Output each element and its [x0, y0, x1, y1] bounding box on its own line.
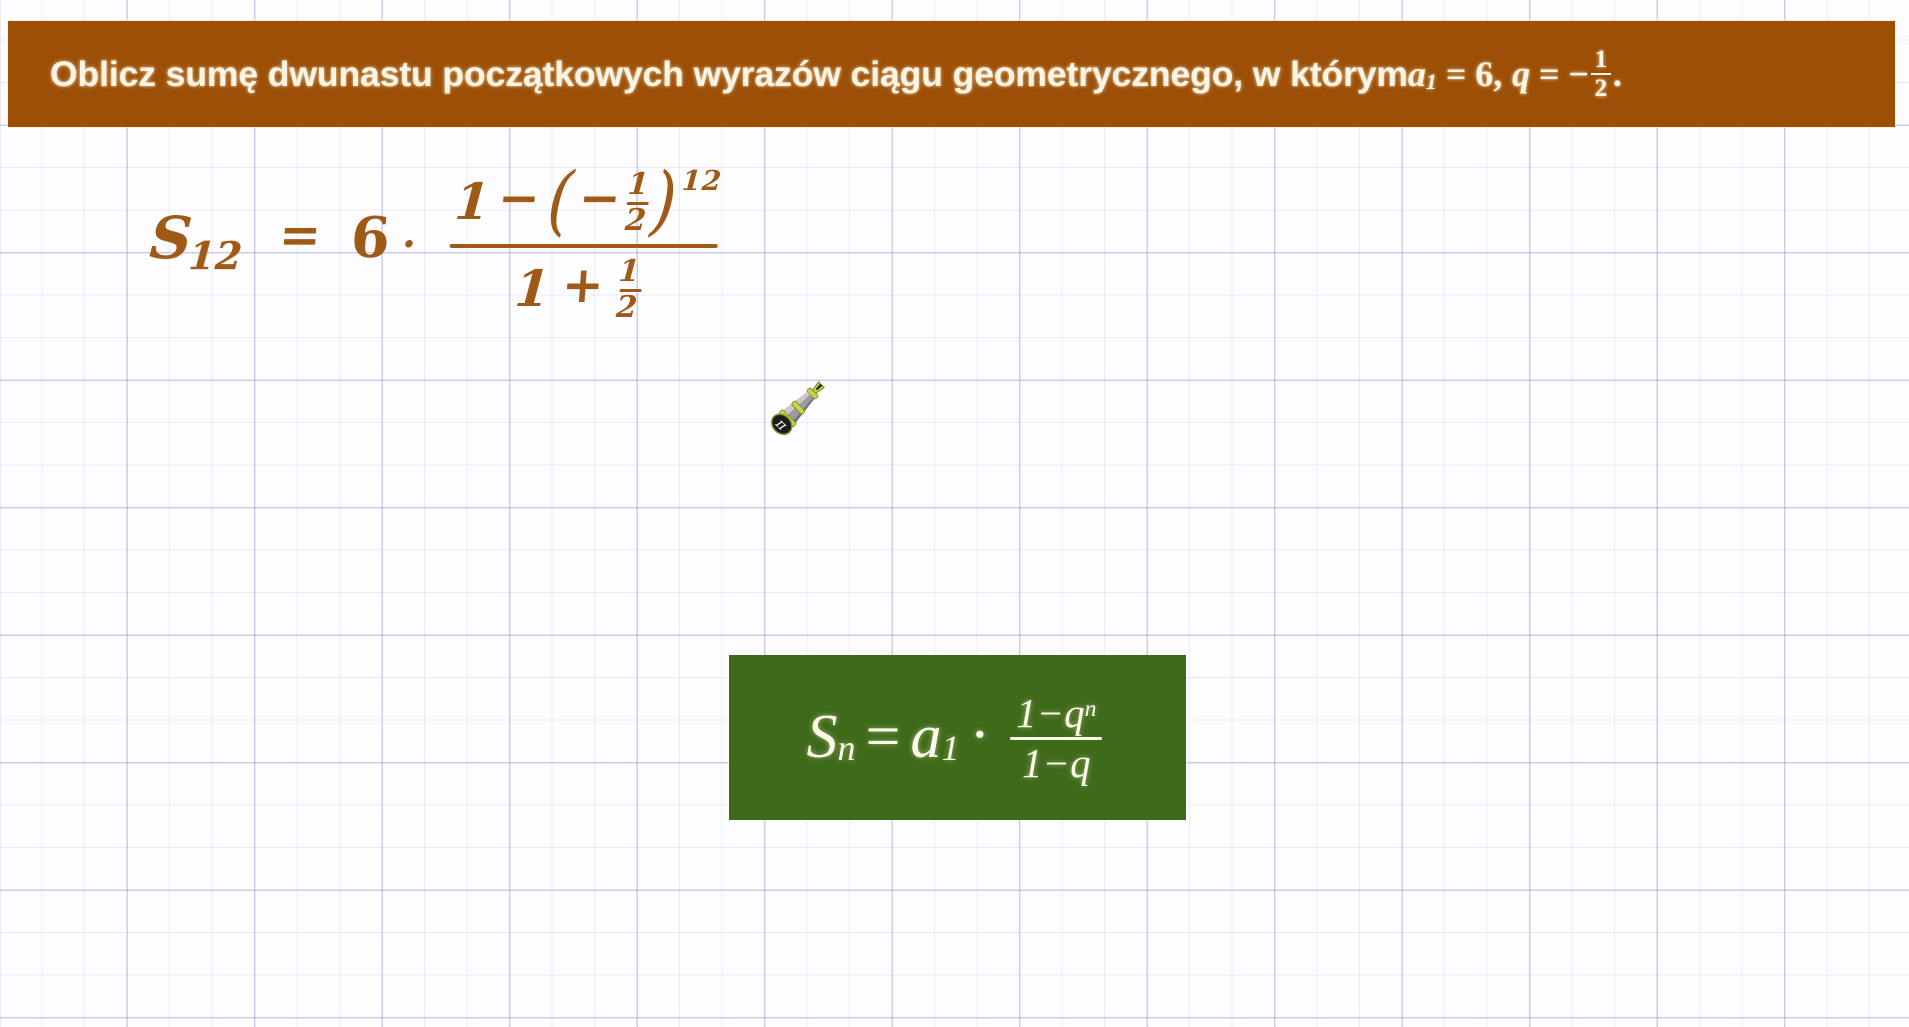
question-text: Oblicz sumę dwunastu początkowych wyrazó…: [8, 47, 1642, 101]
math-comma: ,: [1493, 53, 1502, 95]
handwritten-coefficient: 6: [349, 205, 393, 271]
hw-den-frac-num: 1: [618, 258, 647, 287]
formula-fraction: 1−qn 1−q: [1010, 693, 1102, 784]
handwritten-s-subscript: 12: [187, 234, 243, 279]
formula-num-exponent: n: [1085, 696, 1097, 722]
hw-inner-frac-num: 1: [627, 171, 652, 200]
formula-a-subscript: 1: [941, 727, 959, 769]
question-banner: Oblicz sumę dwunastu początkowych wyrazó…: [8, 21, 1895, 127]
question-prose: Oblicz sumę dwunastu początkowych wyrazó…: [50, 54, 1408, 95]
handwritten-denominator: 1 + 1 2: [513, 248, 650, 320]
formula-fraction-numerator: 1−qn: [1010, 693, 1102, 737]
math-q-symbol: q: [1512, 53, 1530, 95]
math-q-frac-denominator: 2: [1592, 75, 1611, 101]
hw-num-minus: −: [496, 168, 544, 227]
handwritten-solution: S12 = 6 · 1 − ( − 1 2 ) 12 1 +: [150, 160, 718, 316]
math-q-fraction: 1 2: [1591, 47, 1611, 101]
math-a-subscript: 1: [1426, 69, 1437, 95]
handwritten-multiply-dot: ·: [402, 221, 416, 268]
formula-a-symbol: a: [910, 702, 941, 773]
pen-cap-pi-glyph: π: [771, 415, 790, 434]
hw-exponent: 12: [681, 165, 724, 197]
math-minus-sign: −: [1568, 53, 1588, 95]
hw-close-paren: ): [648, 157, 681, 244]
formula-fraction-denominator: 1−q: [1016, 740, 1097, 785]
formula-num-base: 1−q: [1016, 691, 1085, 736]
hw-open-paren: (: [545, 157, 578, 244]
formula-multiply-dot: ·: [969, 700, 990, 771]
formula-equals: =: [866, 702, 901, 773]
hw-inner-frac-den: 2: [624, 207, 649, 236]
hw-den-plus: +: [560, 255, 612, 314]
handwritten-fraction: 1 − ( − 1 2 ) 12 1 + 1 2: [445, 164, 724, 320]
hw-inner-fraction: 1 2: [624, 171, 651, 235]
question-math-expression: a1 = 6, q = − 1 2 .: [1408, 47, 1622, 101]
handwritten-equals: =: [277, 205, 323, 264]
sum-formula: Sn = a1 · 1−qn 1−q: [807, 692, 1109, 783]
hw-den-one: 1: [513, 259, 558, 318]
math-a-value: 6: [1475, 53, 1493, 95]
hw-num-one: 1: [453, 172, 494, 231]
pen-cursor-icon: π: [762, 372, 834, 444]
slide-canvas: Oblicz sumę dwunastu początkowych wyrazó…: [0, 0, 1909, 1027]
math-period: .: [1613, 53, 1622, 95]
formula-reference-box: Sn = a1 · 1−qn 1−q: [729, 655, 1186, 820]
formula-s-symbol: S: [807, 702, 838, 773]
hw-den-frac-den: 2: [615, 294, 644, 323]
hw-den-fraction: 1 2: [615, 258, 646, 322]
math-equals-2: =: [1539, 53, 1559, 95]
handwritten-numerator: 1 − ( − 1 2 ) 12: [452, 164, 721, 244]
math-q-frac-numerator: 1: [1592, 47, 1611, 73]
handwritten-lhs: S12: [148, 204, 248, 272]
hw-inner-minus: −: [577, 168, 625, 227]
formula-s-subscript: n: [838, 727, 856, 769]
math-equals-1: =: [1446, 53, 1466, 95]
math-a-symbol: a: [1408, 53, 1426, 95]
